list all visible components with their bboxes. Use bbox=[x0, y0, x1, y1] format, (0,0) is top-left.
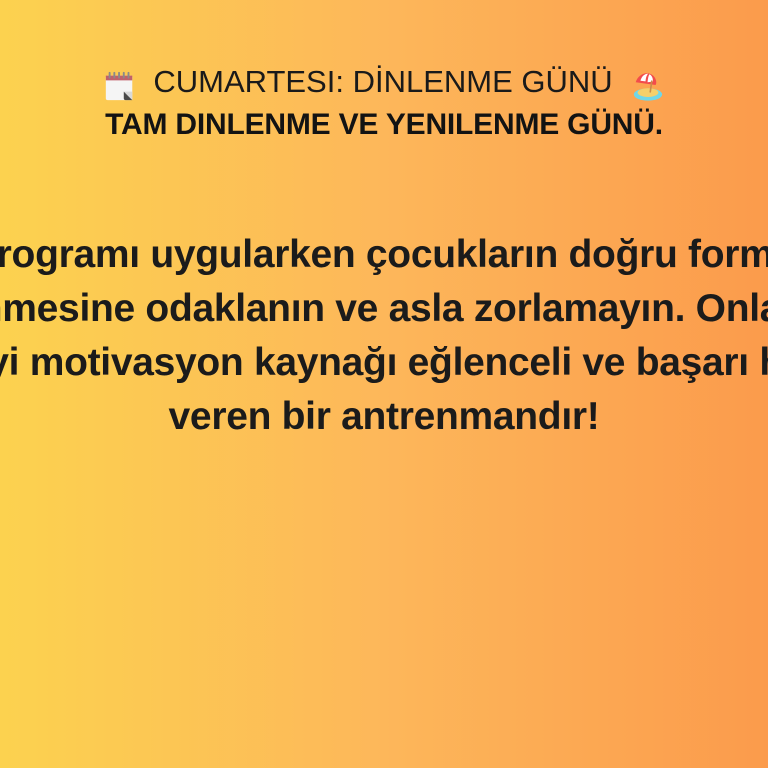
header-block: CUMARTESI: DİNLENME GÜNÜ TAM DINLENME VE… bbox=[0, 62, 768, 145]
body-line-4: veren bir antrenmandır! bbox=[0, 390, 768, 444]
header-title-line: CUMARTESI: DİNLENME GÜNÜ bbox=[0, 62, 768, 103]
header-subtitle: TAM DINLENME VE YENILENME GÜNÜ. bbox=[0, 105, 768, 145]
header-title-text: CUMARTESI: DİNLENME GÜNÜ bbox=[153, 64, 612, 99]
spiral-notepad-icon bbox=[103, 70, 145, 103]
body-paragraph: Programı uygularken çocukların doğru for… bbox=[0, 228, 768, 444]
slide-canvas: CUMARTESI: DİNLENME GÜNÜ TAM DINLENME VE… bbox=[0, 0, 768, 768]
beach-with-umbrella-icon bbox=[623, 70, 665, 103]
body-line-1: Programı uygularken çocukların doğru for… bbox=[0, 228, 768, 282]
body-line-3: en iyi motivasyon kaynağı eğlenceli ve b… bbox=[0, 336, 768, 390]
body-line-2: öğrenmesine odaklanın ve asla zorlamayın… bbox=[0, 282, 768, 336]
